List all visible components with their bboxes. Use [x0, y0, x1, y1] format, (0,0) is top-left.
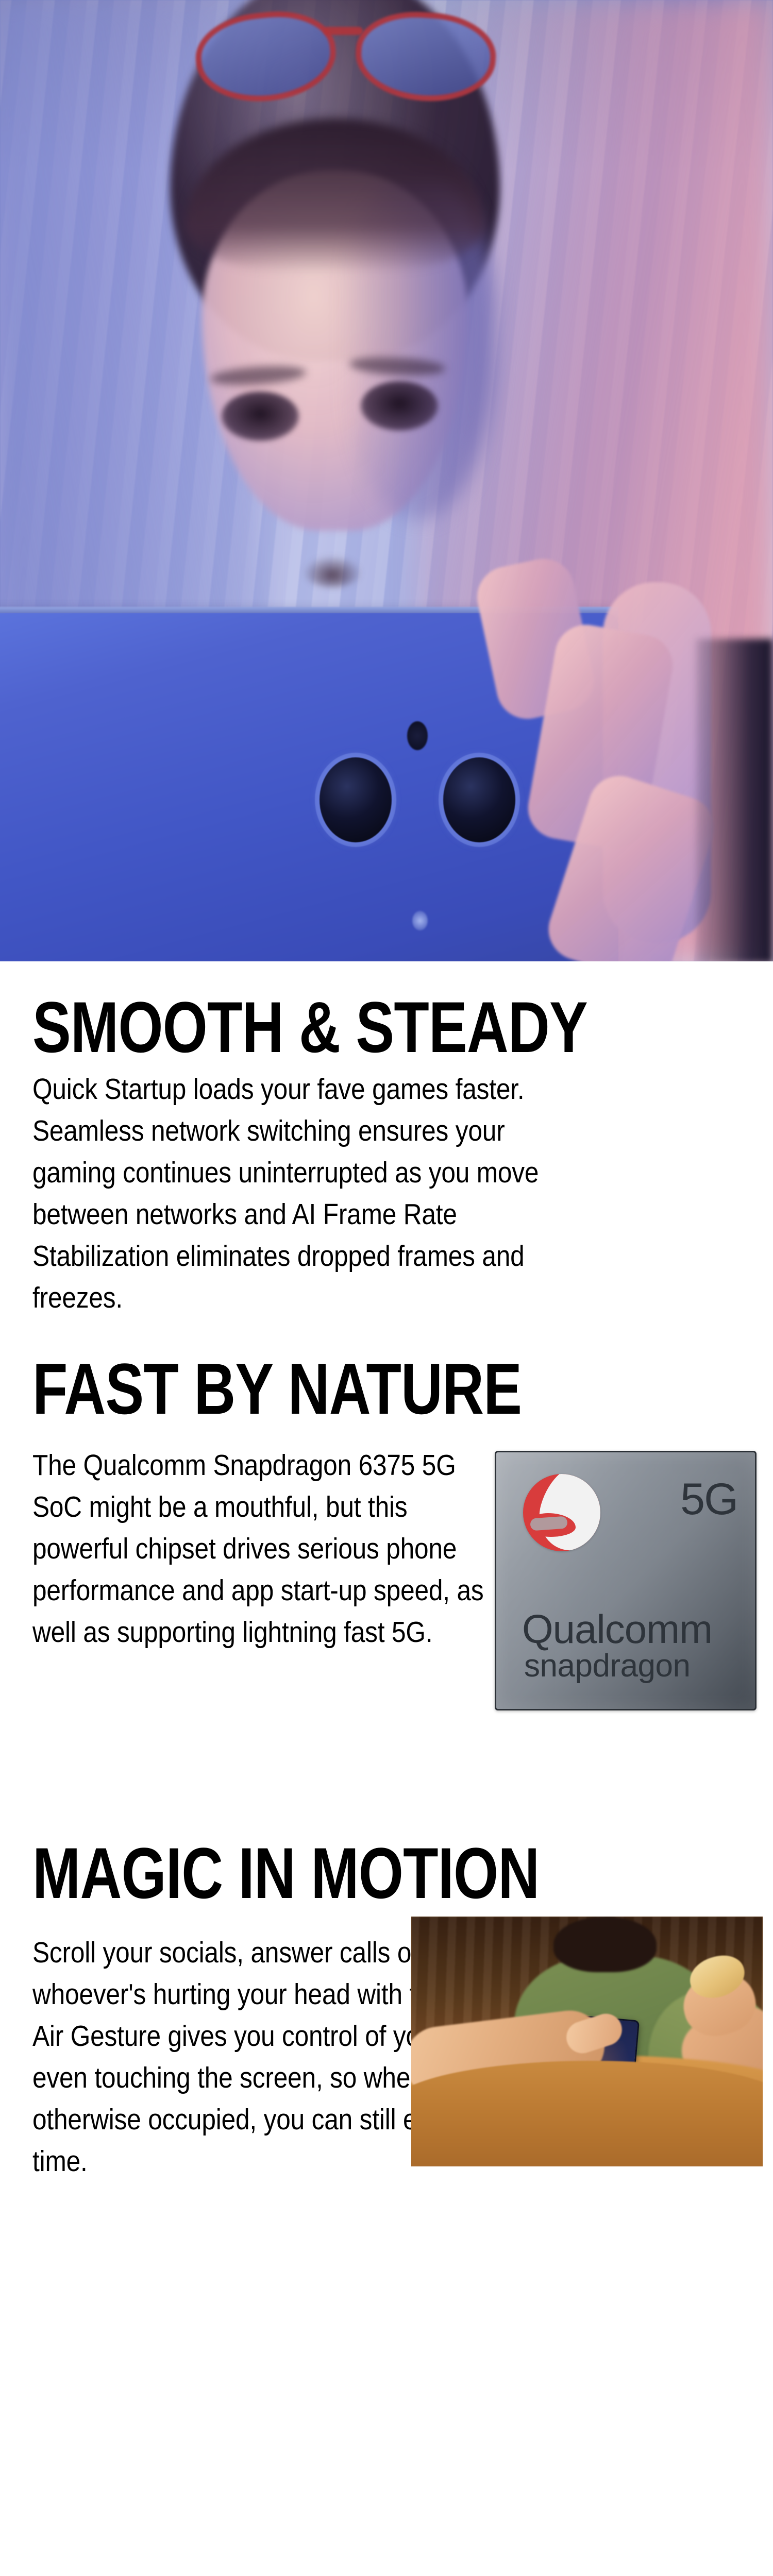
sunglasses-lens-right — [352, 8, 498, 106]
section-heading-magic: MAGIC IN MOTION — [32, 1837, 539, 1909]
hero-eye-left — [222, 392, 299, 441]
hero-nose — [304, 556, 361, 587]
section-body-smooth: Quick Startup loads your fave games fast… — [32, 1069, 593, 1319]
ag-table-front — [411, 2061, 763, 2166]
chip-product-label: snapdragon — [524, 1650, 691, 1682]
hero-hand — [479, 567, 721, 961]
chip-brand-label: Qualcomm — [522, 1609, 712, 1649]
hero-phone-microphone — [412, 911, 428, 930]
snapdragon-logo-swirl — [531, 1474, 600, 1551]
sunglasses-bridge — [324, 27, 363, 35]
hero-phone-flash — [407, 721, 428, 750]
section-heading-fast: FAST BY NATURE — [32, 1353, 522, 1425]
hero-eye-right — [361, 381, 438, 431]
snapdragon-logo-notch — [530, 1516, 567, 1531]
hero-right-shadow — [696, 639, 773, 961]
section-heading-smooth: SMOOTH & STEADY — [32, 991, 587, 1063]
chip-5g-badge: 5G — [680, 1477, 737, 1521]
hero-image — [0, 0, 773, 961]
air-gesture-image — [411, 1917, 763, 2166]
section-body-fast: The Qualcomm Snapdragon 6375 5G SoC migh… — [32, 1445, 490, 1653]
sunglasses-lens-left — [192, 5, 340, 108]
hero-phone-camera-lens-1 — [320, 757, 392, 842]
snapdragon-logo-icon — [523, 1474, 600, 1551]
sunglasses-icon — [186, 5, 515, 113]
ag-person-hair — [553, 1917, 657, 1972]
feature-page: SMOOTH & STEADY Quick Startup loads your… — [0, 0, 773, 2576]
snapdragon-chip-image: 5G Qualcomm snapdragon — [495, 1451, 757, 1710]
